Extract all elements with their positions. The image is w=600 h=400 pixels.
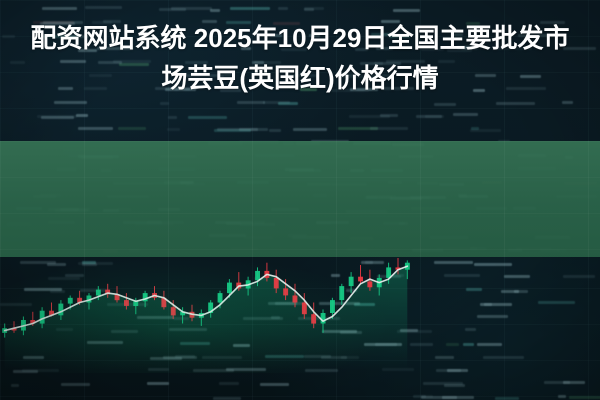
page-title-line-2: 场芸豆(英国红)价格行情 <box>161 59 438 97</box>
title-banner-band <box>0 141 600 257</box>
page-title-line-1: 配资网站系统 2025年10月29日全国主要批发市 <box>31 19 570 57</box>
screenshot-root: 配资网站系统 2025年10月29日全国主要批发市 场芸豆(英国红)价格行情 <box>0 0 600 400</box>
page-title: 配资网站系统 2025年10月29日全国主要批发市 场芸豆(英国红)价格行情 <box>0 0 600 116</box>
candlestick-chart-svg <box>0 245 412 370</box>
chart-area-fill <box>5 266 408 370</box>
candlestick-chart <box>0 245 412 370</box>
banner-grid-texture <box>0 141 600 257</box>
